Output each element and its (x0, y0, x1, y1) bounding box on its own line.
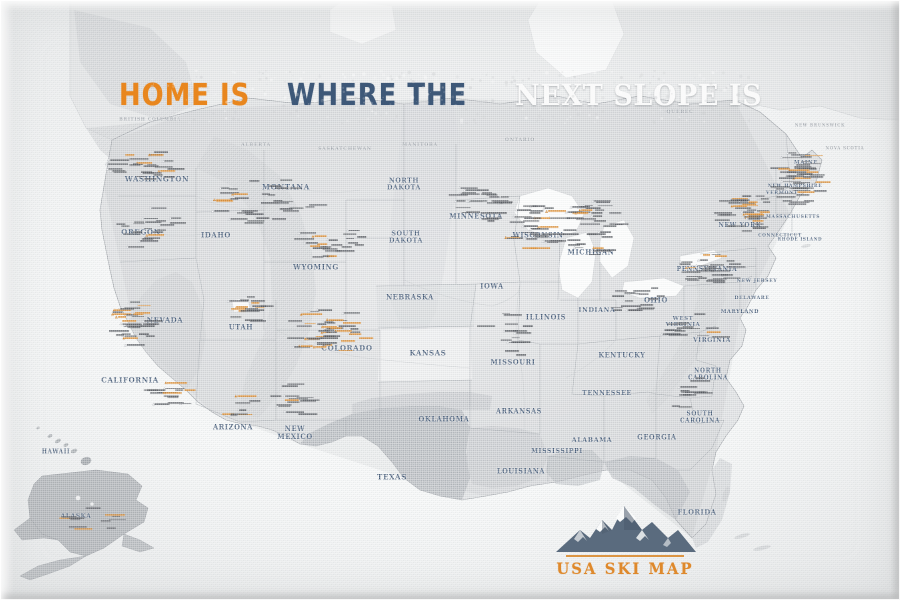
headline-part-home-is: HOME IS (119, 78, 250, 113)
mountain-range-icon (550, 500, 700, 554)
poster-headline: HOME IS WHERE THE NEXT SLOPE IS (0, 78, 900, 113)
logo-wordmark: USA SKI MAP (544, 559, 706, 578)
headline-part-where-the: WHERE THE (287, 78, 467, 113)
usa-ski-map-logo: USA SKI MAP (540, 500, 710, 586)
headline-part-next-slope-is: NEXT SLOPE IS (515, 78, 762, 112)
ski-map-poster: HOME IS WHERE THE NEXT SLOPE IS WASHINGT… (0, 0, 900, 600)
logo-divider-rule (566, 555, 684, 557)
